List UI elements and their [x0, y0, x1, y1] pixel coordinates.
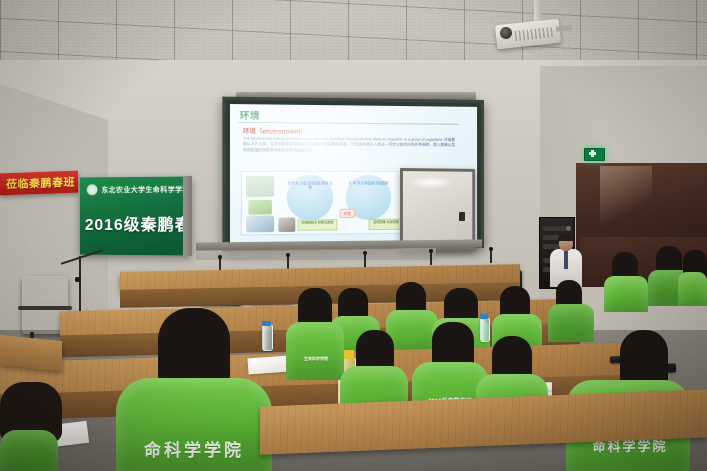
table-microphone: [430, 252, 432, 265]
side-chair-armrest: [18, 306, 72, 310]
red-welcome-banner: 莅临秦鹏春班: [0, 171, 78, 196]
desk-left-stub: [0, 335, 62, 372]
paper-sheet: [247, 356, 290, 375]
water-bottle: [262, 325, 273, 351]
tshirt-text: 命科学学院: [122, 436, 266, 461]
green-banner-class-text: 2016级秦鹏春班: [85, 211, 186, 235]
green-class-banner: 东北农业大学生命科学学院 2016级秦鹏春班: [80, 177, 191, 256]
university-logo-icon: [87, 184, 98, 195]
presenter-tie: [564, 251, 568, 269]
table-microphone: [364, 254, 366, 267]
tshirt-text: 生命科学学院: [294, 356, 338, 362]
bottle-cap: [480, 314, 488, 319]
rack-knob-icon: [566, 226, 571, 231]
whiteboard-glare: [408, 176, 454, 189]
water-bottle: [480, 318, 490, 342]
presenter-hair: [558, 233, 574, 241]
green-banner-org-text: 东北农业大学生命科学学院: [101, 185, 190, 196]
banner-frame-post: [183, 176, 192, 256]
classroom-photo: 环境 环境（environment） The physical and biol…: [0, 0, 707, 471]
wood-panel-highlight: [600, 166, 652, 226]
red-banner-text: 莅临秦鹏春班: [6, 174, 78, 193]
table-microphone: [490, 250, 492, 263]
whiteboard-bracket-icon: [459, 212, 465, 221]
table-microphone: [287, 256, 289, 269]
microphone-stand-clamp: [75, 277, 81, 282]
bottle-cap: [262, 321, 271, 326]
exit-sign-glyph-h: [589, 152, 596, 155]
